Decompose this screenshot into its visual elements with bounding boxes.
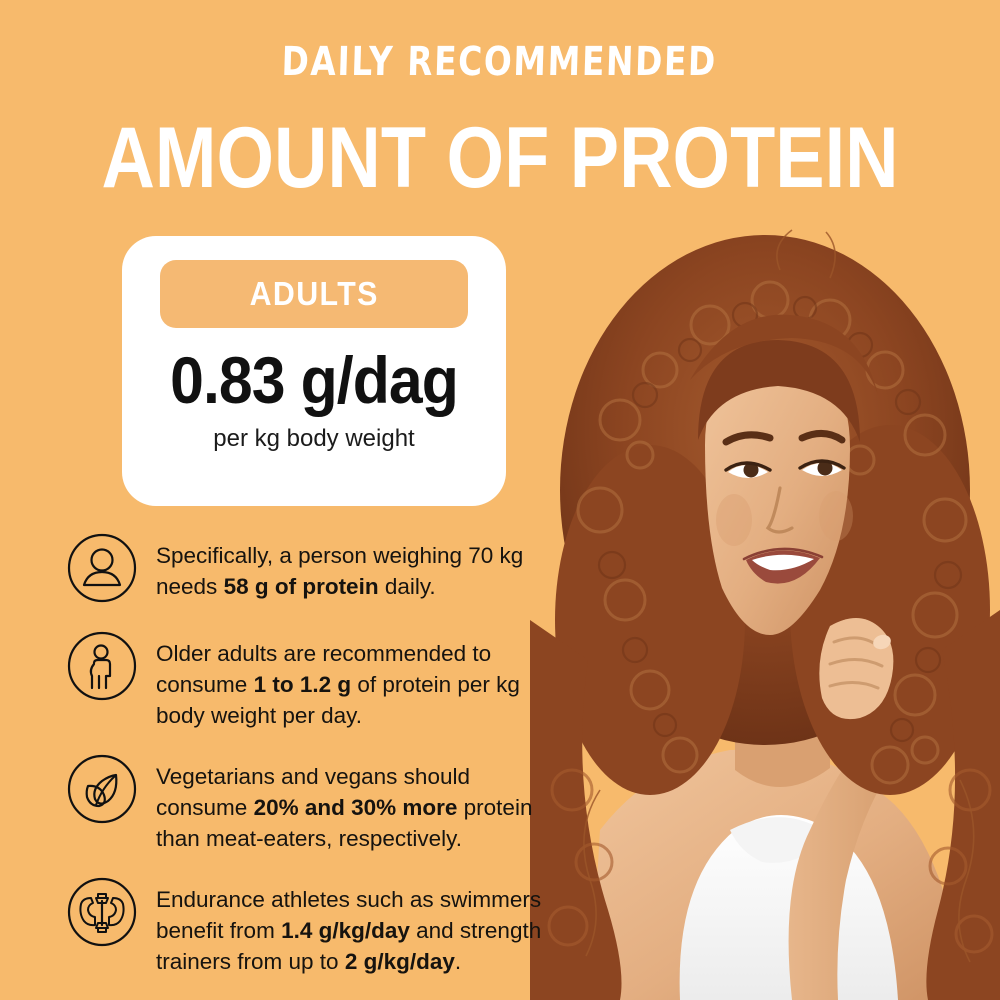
- adults-badge-label: ADULTS: [249, 275, 378, 313]
- adults-recommendation-card: ADULTS 0.83 g/dag per kg body weight: [122, 236, 506, 506]
- leaf-icon: [66, 753, 138, 825]
- model-photo: [530, 190, 1000, 1000]
- flexing-arms-dumbbell-icon: [66, 876, 138, 948]
- poster-root: DAILY RECOMMENDED AMOUNT OF PROTEIN ADUL…: [0, 0, 1000, 1000]
- model-photo-illustration: [530, 190, 1000, 1000]
- list-item: Older adults are recommended to consume …: [66, 630, 566, 731]
- page-title: AMOUNT OF PROTEIN: [70, 110, 930, 206]
- list-item: Endurance athletes such as swimmers bene…: [66, 876, 566, 977]
- protein-amount-subtitle: per kg body weight: [148, 424, 480, 454]
- kicker-heading: DAILY RECOMMENDED: [89, 36, 910, 88]
- list-item-text: Specifically, a person weighing 70 kg ne…: [156, 532, 566, 602]
- facts-list: Specifically, a person weighing 70 kg ne…: [66, 532, 566, 977]
- adults-badge: ADULTS: [160, 260, 468, 328]
- list-item: Vegetarians and vegans should consume 20…: [66, 753, 566, 854]
- elderly-person-with-cane-icon: [66, 630, 138, 702]
- person-icon: [66, 532, 138, 604]
- list-item-text: Endurance athletes such as swimmers bene…: [156, 876, 566, 977]
- list-item-text: Vegetarians and vegans should consume 20…: [156, 753, 566, 854]
- protein-amount-value: 0.83 g/dag: [161, 342, 466, 418]
- list-item-text: Older adults are recommended to consume …: [156, 630, 566, 731]
- list-item: Specifically, a person weighing 70 kg ne…: [66, 532, 566, 604]
